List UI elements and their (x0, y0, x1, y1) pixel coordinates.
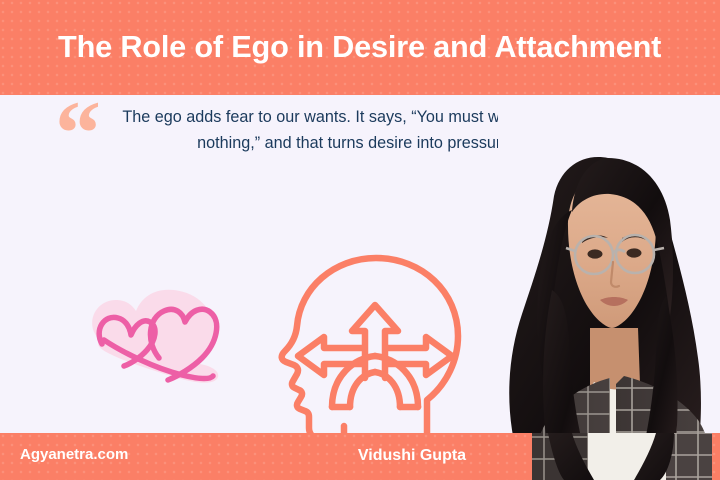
arrow-right (386, 337, 452, 375)
curve-left-stem-inner (350, 372, 375, 407)
quote-card: The Role of Ego in Desire and Attachment… (0, 0, 720, 480)
curve-right-stem-inner (375, 372, 400, 407)
eye-left (588, 249, 603, 258)
arrow-left (298, 337, 364, 375)
author-portrait (498, 100, 720, 480)
page-title: The Role of Ego in Desire and Attachment (45, 30, 676, 64)
hearts-illustration (82, 278, 232, 388)
footer-band: Agyanetra.com Vidushi Gupta (0, 433, 720, 480)
quote-open-mark: “ (55, 95, 101, 179)
author-name: Vidushi Gupta (0, 447, 720, 465)
header-band: The Role of Ego in Desire and Attachment (0, 0, 720, 95)
head-arrows-illustration (272, 250, 477, 433)
eye-right (627, 248, 642, 257)
